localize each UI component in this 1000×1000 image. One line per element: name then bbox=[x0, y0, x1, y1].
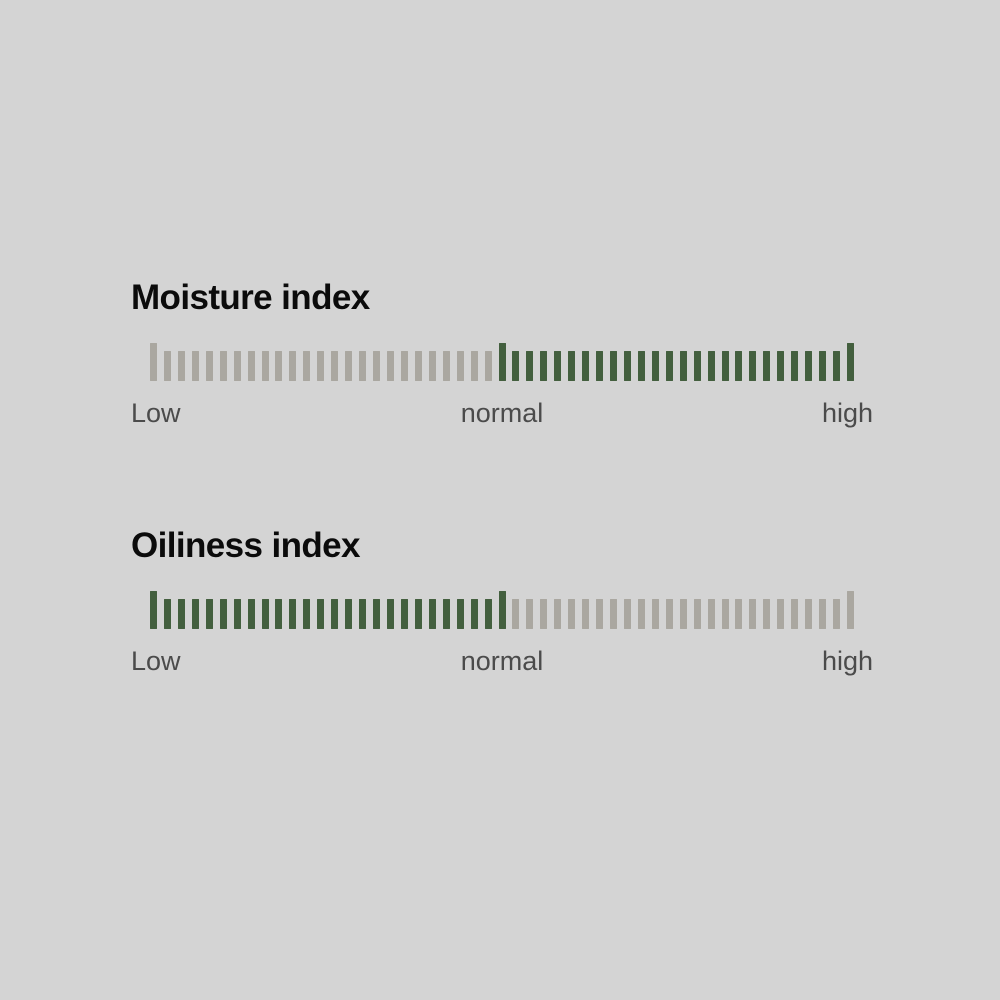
meter-tick bbox=[443, 351, 450, 381]
meter-tick bbox=[554, 599, 561, 629]
meter-tick bbox=[262, 351, 269, 381]
meter-tick bbox=[596, 351, 603, 381]
meter-tick bbox=[248, 351, 255, 381]
meter-tick bbox=[540, 599, 547, 629]
meter-tick bbox=[289, 351, 296, 381]
meter-tick bbox=[164, 351, 171, 381]
meter-tick bbox=[345, 351, 352, 381]
meter-tick bbox=[512, 351, 519, 381]
meter-tick bbox=[289, 599, 296, 629]
meter-tick bbox=[540, 351, 547, 381]
meter-tick bbox=[708, 599, 715, 629]
meter-tick bbox=[429, 599, 436, 629]
meter-tick bbox=[387, 599, 394, 629]
meter-tick bbox=[568, 599, 575, 629]
scale-label-high: high bbox=[822, 644, 873, 678]
meter-tick bbox=[554, 351, 561, 381]
meter-tick bbox=[833, 351, 840, 381]
meter-tick bbox=[220, 351, 227, 381]
meter-tick bbox=[805, 599, 812, 629]
meter-tick bbox=[192, 351, 199, 381]
meter-tick bbox=[652, 599, 659, 629]
meter-tick bbox=[359, 351, 366, 381]
meter-tick bbox=[833, 599, 840, 629]
meter-tick bbox=[763, 599, 770, 629]
meter-tick bbox=[164, 599, 171, 629]
meter-scale-labels: Low normal high bbox=[131, 644, 873, 680]
meter-tick bbox=[234, 351, 241, 381]
meter-tick bbox=[499, 343, 506, 381]
meter-tick bbox=[735, 599, 742, 629]
meter-tick bbox=[638, 351, 645, 381]
meter-tick bbox=[694, 599, 701, 629]
index-title: Moisture index bbox=[131, 276, 873, 320]
meter-tick bbox=[777, 351, 784, 381]
meter-tick bbox=[429, 351, 436, 381]
scale-label-low: Low bbox=[131, 644, 181, 678]
meter-tick bbox=[206, 351, 213, 381]
meter-tick bbox=[819, 351, 826, 381]
meter-tick bbox=[457, 351, 464, 381]
meter-tick bbox=[680, 599, 687, 629]
meter-tick bbox=[275, 599, 282, 629]
meter-tick bbox=[499, 591, 506, 629]
meter-tick bbox=[275, 351, 282, 381]
meter-tick bbox=[526, 599, 533, 629]
meter-tick bbox=[749, 351, 756, 381]
meter-tick bbox=[526, 351, 533, 381]
scale-label-high: high bbox=[822, 396, 873, 430]
meter-tick bbox=[415, 351, 422, 381]
meter-tick bbox=[262, 599, 269, 629]
scale-label-normal: normal bbox=[461, 644, 544, 678]
meter-tick bbox=[317, 351, 324, 381]
meter-tick bbox=[596, 599, 603, 629]
meter-tick bbox=[387, 351, 394, 381]
meter-tick bbox=[680, 351, 687, 381]
meter-tick bbox=[248, 599, 255, 629]
meter-tick bbox=[206, 599, 213, 629]
meter-tick bbox=[708, 351, 715, 381]
meter-tick bbox=[373, 599, 380, 629]
meter-tick bbox=[359, 599, 366, 629]
index-block-oiliness: Oiliness index Low normal high bbox=[131, 524, 873, 680]
meter-tick bbox=[847, 591, 854, 629]
meter-track bbox=[150, 588, 854, 632]
meter-tick bbox=[150, 591, 157, 629]
meter-tick bbox=[485, 351, 492, 381]
meter-tick bbox=[303, 351, 310, 381]
meter-tick bbox=[847, 343, 854, 381]
meter-tick bbox=[220, 599, 227, 629]
meter-tick bbox=[471, 599, 478, 629]
meter-tick bbox=[805, 351, 812, 381]
meter-tick bbox=[624, 351, 631, 381]
meter-tick bbox=[317, 599, 324, 629]
meter-tick bbox=[777, 599, 784, 629]
meter-tick bbox=[722, 599, 729, 629]
index-meters-panel: Moisture index Low normal high Oiliness … bbox=[0, 0, 1000, 1000]
meter-tick bbox=[610, 351, 617, 381]
meter-tick bbox=[178, 599, 185, 629]
meter-tick bbox=[178, 351, 185, 381]
meter-tick bbox=[401, 351, 408, 381]
meter-tick bbox=[791, 599, 798, 629]
meter-tick bbox=[192, 599, 199, 629]
meter-track bbox=[150, 340, 854, 384]
meter-tick bbox=[150, 343, 157, 381]
meter-tick bbox=[485, 599, 492, 629]
oiliness-meter[interactable] bbox=[150, 588, 854, 632]
meter-tick bbox=[568, 351, 575, 381]
meter-tick bbox=[234, 599, 241, 629]
meter-tick bbox=[331, 599, 338, 629]
meter-tick bbox=[471, 351, 478, 381]
meter-tick bbox=[638, 599, 645, 629]
meter-tick bbox=[735, 351, 742, 381]
scale-label-normal: normal bbox=[461, 396, 544, 430]
meter-tick bbox=[345, 599, 352, 629]
meter-tick bbox=[666, 599, 673, 629]
meter-tick bbox=[373, 351, 380, 381]
meter-tick bbox=[624, 599, 631, 629]
moisture-meter[interactable] bbox=[150, 340, 854, 384]
meter-tick bbox=[722, 351, 729, 381]
meter-tick bbox=[443, 599, 450, 629]
meter-tick bbox=[819, 599, 826, 629]
meter-tick bbox=[457, 599, 464, 629]
scale-label-low: Low bbox=[131, 396, 181, 430]
meter-tick bbox=[582, 351, 589, 381]
meter-tick bbox=[331, 351, 338, 381]
meter-tick bbox=[512, 599, 519, 629]
meter-tick bbox=[666, 351, 673, 381]
meter-tick bbox=[610, 599, 617, 629]
meter-tick bbox=[401, 599, 408, 629]
meter-tick bbox=[652, 351, 659, 381]
meter-tick bbox=[763, 351, 770, 381]
meter-scale-labels: Low normal high bbox=[131, 396, 873, 432]
index-block-moisture: Moisture index Low normal high bbox=[131, 276, 873, 432]
meter-tick bbox=[582, 599, 589, 629]
meter-tick bbox=[791, 351, 798, 381]
meter-tick bbox=[749, 599, 756, 629]
meter-tick bbox=[303, 599, 310, 629]
meter-tick bbox=[694, 351, 701, 381]
meter-tick bbox=[415, 599, 422, 629]
index-title: Oiliness index bbox=[131, 524, 873, 568]
